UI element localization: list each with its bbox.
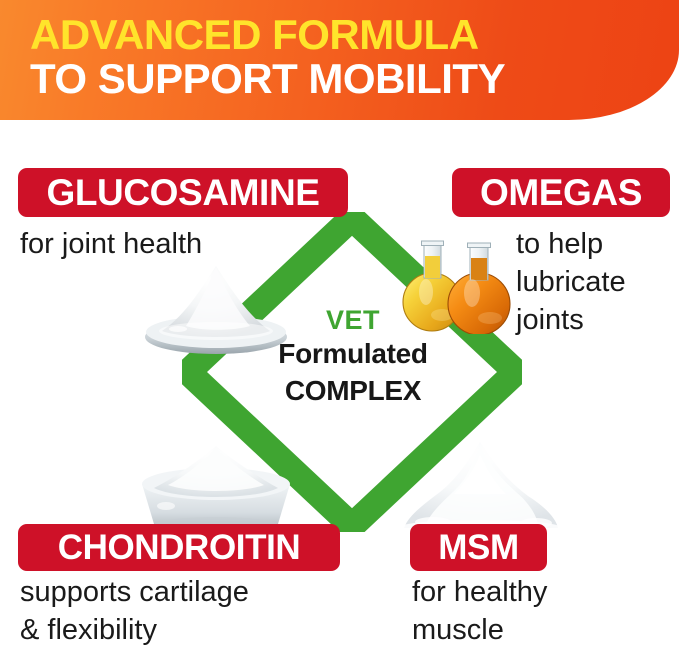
badge-msm: MSM [410, 524, 547, 571]
description-omegas-line3: joints [516, 301, 676, 339]
center-vet-label: VET [253, 305, 453, 335]
description-msm-line2: muscle [412, 611, 662, 649]
badge-omegas: OMEGAS [452, 168, 670, 217]
description-omegas: to help lubricate joints [516, 225, 676, 339]
badge-msm-label: MSM [438, 528, 518, 568]
banner-headline-primary: ADVANCED FORMULA [30, 12, 630, 58]
description-glucosamine-line1: for joint health [20, 225, 300, 263]
center-text-block: VET Formulated COMPLEX [253, 305, 453, 409]
msm-powder-pile-image [388, 434, 573, 538]
badge-glucosamine: GLUCOSAMINE [18, 168, 348, 217]
description-omegas-line1: to help [516, 225, 676, 263]
description-msm: for healthy muscle [412, 573, 662, 649]
description-glucosamine: for joint health [20, 225, 300, 263]
description-chondroitin-line1: supports cartilage [20, 573, 360, 611]
chondroitin-powder-dish-image [136, 432, 296, 536]
infographic-root: ADVANCED FORMULA TO SUPPORT MOBILITY [0, 0, 679, 655]
badge-glucosamine-label: GLUCOSAMINE [46, 172, 319, 214]
description-msm-line1: for healthy [412, 573, 662, 611]
badge-chondroitin-label: CHONDROITIN [58, 528, 301, 568]
badge-omegas-label: OMEGAS [480, 172, 642, 214]
header-banner: ADVANCED FORMULA TO SUPPORT MOBILITY [0, 0, 679, 120]
banner-headline-secondary: TO SUPPORT MOBILITY [30, 56, 630, 102]
description-omegas-line2: lubricate [516, 263, 676, 301]
center-complex-label: COMPLEX [253, 372, 453, 409]
description-chondroitin: supports cartilage & flexibility [20, 573, 360, 649]
center-formulated-label: Formulated [253, 335, 453, 372]
badge-chondroitin: CHONDROITIN [18, 524, 340, 571]
description-chondroitin-line2: & flexibility [20, 611, 360, 649]
